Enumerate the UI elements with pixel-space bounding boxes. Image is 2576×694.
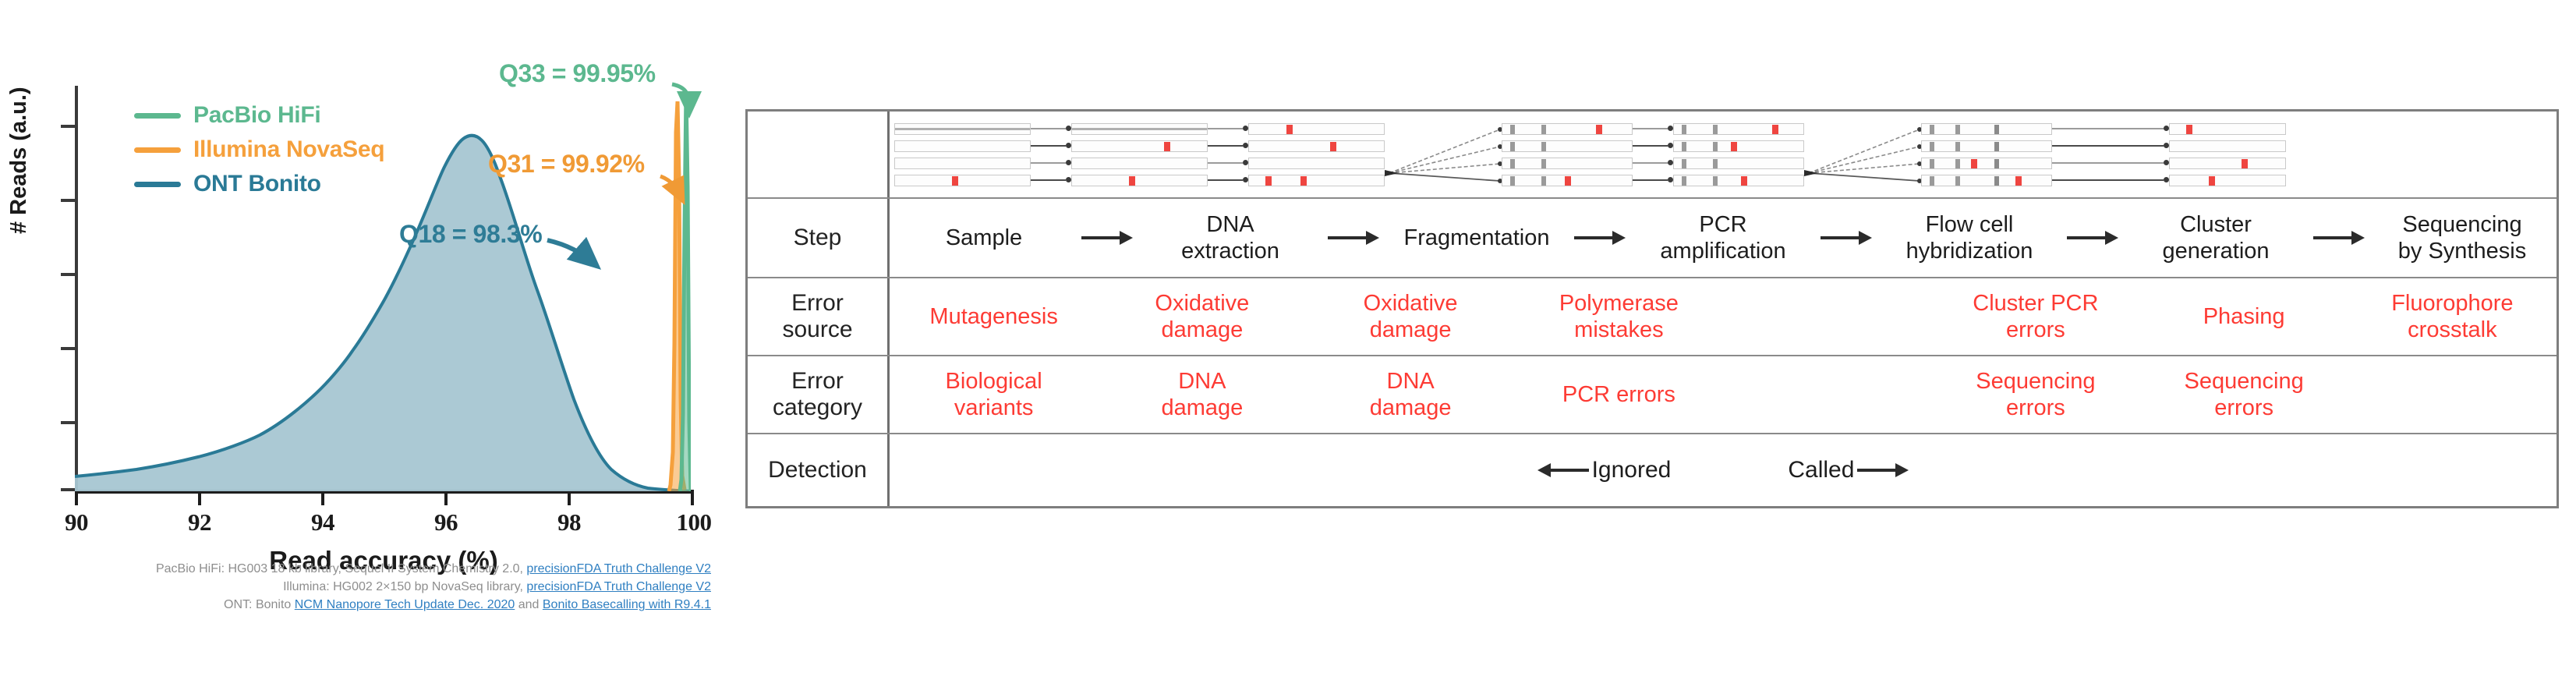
dna-transition-arrows bbox=[1031, 123, 1071, 186]
error-category-cell: Sequencingerrors bbox=[2140, 368, 2348, 421]
legend-label: ONT Bonito bbox=[193, 171, 321, 197]
legend-item-illumina-novaseq: Illumina NovaSeq bbox=[134, 133, 384, 167]
step-label: by Synthesis bbox=[2398, 238, 2526, 264]
legend-swatch-icon bbox=[134, 147, 181, 153]
footnote-link[interactable]: precisionFDA Truth Challenge V2 bbox=[526, 580, 711, 593]
legend-label: PacBio HiFi bbox=[193, 102, 320, 129]
y-axis-title: # Reads (a.u.) bbox=[6, 87, 32, 234]
mutation-mark bbox=[952, 176, 958, 186]
step-label: generation bbox=[2162, 238, 2269, 264]
error-category-label: damage bbox=[1099, 395, 1304, 421]
error-source-cells: Mutagenesis Oxidativedamage Oxidativedam… bbox=[890, 278, 2557, 355]
mutation-mark bbox=[1971, 159, 1977, 168]
row-label-step: Step bbox=[748, 199, 890, 277]
dna-strand bbox=[1071, 140, 1208, 152]
error-source-cell: Oxidativedamage bbox=[1098, 290, 1306, 343]
error-category-label: Sequencing bbox=[1933, 368, 2138, 395]
dna-strand bbox=[2169, 175, 2286, 186]
y-axis-tick bbox=[61, 199, 76, 202]
dna-fanout-cluster bbox=[1804, 122, 1921, 187]
table-row-error-source: Errorsource Mutagenesis Oxidativedamage … bbox=[748, 278, 2557, 356]
dna-transition-arrows bbox=[2052, 123, 2169, 186]
mutation-mark bbox=[2186, 125, 2192, 134]
dna-fanout-amplification bbox=[1385, 122, 1502, 187]
row-label-detection: Detection bbox=[748, 434, 890, 506]
read-accuracy-chart: 90 92 94 96 98 100 # Reads (a.u.) Read a… bbox=[0, 0, 733, 694]
error-source-label: errors bbox=[1933, 317, 2138, 343]
error-category-label: PCR errors bbox=[1516, 381, 1721, 408]
footnote-text: and bbox=[515, 598, 543, 611]
footnote-ont: ONT: Bonito NCM Nanopore Tech Update Dec… bbox=[0, 596, 711, 614]
error-source-label: damage bbox=[1099, 317, 1304, 343]
row-label-error-source: Errorsource bbox=[748, 278, 890, 355]
dna-strand bbox=[1248, 175, 1385, 186]
table-row-step: Step Sample DNAextraction Fragmentation bbox=[748, 199, 2557, 278]
dna-transition-arrows bbox=[1633, 123, 1673, 186]
step-label: DNA bbox=[1181, 211, 1279, 238]
arrow-right-icon bbox=[1857, 462, 1909, 478]
x-axis-tick bbox=[75, 490, 78, 505]
dna-strand bbox=[1502, 158, 1633, 169]
row-label-line: source bbox=[782, 317, 852, 343]
mutation-mark bbox=[1330, 142, 1336, 151]
dna-strand bbox=[894, 140, 1031, 152]
dna-strand bbox=[894, 158, 1031, 169]
annotation-ont-bonito: Q18 = 98.3% bbox=[399, 220, 542, 249]
step-cell-sample: Sample bbox=[890, 225, 1078, 251]
error-category-label: DNA bbox=[1099, 368, 1304, 395]
dna-stage-fragmentation bbox=[1248, 123, 1385, 186]
footnote-link[interactable]: Bonito Basecalling with R9.4.1 bbox=[543, 598, 711, 611]
dna-strand bbox=[1673, 158, 1804, 169]
legend-swatch-icon bbox=[134, 182, 181, 187]
table-row-diagram bbox=[748, 112, 2557, 199]
mutation-mark bbox=[2242, 159, 2248, 168]
detection-called-label: Called bbox=[1788, 457, 1854, 483]
footnote-text: PacBio HiFi: HG003 18 kb library, Sequel… bbox=[156, 562, 526, 575]
error-source-cell: Phasing bbox=[2140, 303, 2348, 330]
footnote-illumina: Illumina: HG002 2×150 bp NovaSeq library… bbox=[0, 578, 711, 596]
dna-strand bbox=[1248, 140, 1385, 152]
step-label: amplification bbox=[1660, 238, 1785, 264]
mutation-mark bbox=[1129, 176, 1135, 186]
step-arrow-icon bbox=[1328, 230, 1379, 246]
x-tick-label: 94 bbox=[311, 508, 334, 536]
dna-strand bbox=[1248, 158, 1385, 169]
step-cell-flow-cell-hybridization: Flow cellhybridization bbox=[1875, 211, 2064, 264]
step-cell-dna-extraction: DNAextraction bbox=[1136, 211, 1325, 264]
error-category-label: Sequencing bbox=[2142, 368, 2347, 395]
footnote-text: ONT: Bonito bbox=[224, 598, 295, 611]
mutation-mark bbox=[2209, 176, 2215, 186]
error-category-label: errors bbox=[1933, 395, 2138, 421]
x-axis-tick bbox=[444, 490, 448, 505]
error-category-cells: Biologicalvariants DNAdamage DNAdamage P… bbox=[890, 356, 2557, 433]
step-label: extraction bbox=[1181, 238, 1279, 264]
step-label: Sample bbox=[946, 225, 1022, 251]
x-tick-label: 98 bbox=[557, 508, 581, 536]
table-row-detection: Detection Ignored Called bbox=[748, 434, 2557, 506]
step-label: Flow cell bbox=[1906, 211, 2033, 238]
error-source-label: Fluorophore bbox=[2350, 290, 2555, 317]
mutation-mark bbox=[1286, 125, 1293, 134]
error-source-cell: Mutagenesis bbox=[890, 303, 1098, 330]
dna-strand bbox=[2169, 158, 2286, 169]
dna-strand bbox=[894, 123, 1031, 135]
footnote-link[interactable]: NCM Nanopore Tech Update Dec. 2020 bbox=[295, 598, 515, 611]
step-label: Cluster bbox=[2162, 211, 2269, 238]
error-category-cell: Sequencingerrors bbox=[1931, 368, 2139, 421]
mutation-mark bbox=[1731, 142, 1737, 151]
row-label-line: Error bbox=[782, 290, 852, 317]
dna-strand bbox=[1921, 123, 2052, 135]
x-axis-tick bbox=[691, 490, 694, 505]
detection-cells: Ignored Called bbox=[890, 434, 2557, 506]
dna-strand bbox=[1502, 123, 1633, 135]
step-cell-sequencing-by-synthesis: Sequencingby Synthesis bbox=[2368, 211, 2557, 264]
dna-strand bbox=[1071, 175, 1208, 186]
mutation-mark bbox=[1265, 176, 1272, 186]
table-row-error-category: Errorcategory Biologicalvariants DNAdama… bbox=[748, 356, 2557, 434]
y-axis-tick bbox=[61, 347, 76, 350]
step-label: Sequencing bbox=[2398, 211, 2526, 238]
error-source-label: mistakes bbox=[1516, 317, 1721, 343]
x-axis-tick bbox=[198, 490, 201, 505]
error-source-cell: Oxidativedamage bbox=[1307, 290, 1515, 343]
error-source-cell: Fluorophorecrosstalk bbox=[2348, 290, 2557, 343]
legend-item-pacbio-hifi: PacBio HiFi bbox=[134, 98, 384, 133]
step-cell-pcr-amplification: PCRamplification bbox=[1629, 211, 1817, 264]
step-arrow-icon bbox=[1574, 230, 1626, 246]
mutation-mark bbox=[1164, 142, 1170, 151]
dna-stage-flowcell bbox=[1673, 123, 1804, 186]
footnote-pacbio: PacBio HiFi: HG003 18 kb library, Sequel… bbox=[0, 560, 711, 578]
row-label-line: category bbox=[773, 395, 862, 421]
legend-swatch-icon bbox=[134, 113, 181, 119]
error-source-cell: Polymerasemistakes bbox=[1515, 290, 1723, 343]
mutation-mark bbox=[1772, 125, 1778, 134]
error-category-label: variants bbox=[891, 395, 1096, 421]
y-axis-tick bbox=[61, 273, 76, 276]
chart-footnotes: PacBio HiFi: HG003 18 kb library, Sequel… bbox=[0, 560, 714, 614]
dna-strand bbox=[1673, 140, 1804, 152]
row-label-diagram bbox=[748, 112, 890, 197]
legend-item-ont-bonito: ONT Bonito bbox=[134, 167, 384, 201]
error-source-label: damage bbox=[1308, 317, 1513, 343]
mutation-mark bbox=[1741, 176, 1747, 186]
footnote-text: Illumina: HG002 2×150 bp NovaSeq library… bbox=[283, 580, 526, 593]
step-cell-fragmentation: Fragmentation bbox=[1382, 225, 1571, 251]
annotation-pacbio-hifi: Q33 = 99.95% bbox=[499, 59, 656, 88]
error-category-cell: DNAdamage bbox=[1307, 368, 1515, 421]
dna-strand bbox=[1673, 123, 1804, 135]
x-tick-label: 90 bbox=[65, 508, 88, 536]
step-label: PCR bbox=[1660, 211, 1785, 238]
dna-strand bbox=[2169, 123, 2286, 135]
dna-strand bbox=[1071, 123, 1208, 135]
error-source-label: Oxidative bbox=[1099, 290, 1304, 317]
detection-called: Called bbox=[1788, 457, 1912, 483]
dna-strand bbox=[1921, 140, 2052, 152]
mutation-mark bbox=[1596, 125, 1602, 134]
mutation-mark bbox=[1300, 176, 1307, 186]
detection-ignored-label: Ignored bbox=[1592, 457, 1672, 483]
step-arrow-icon bbox=[2313, 230, 2365, 246]
step-arrow-icon bbox=[1081, 230, 1133, 246]
dna-transition-arrows bbox=[1208, 123, 1248, 186]
legend-label: Illumina NovaSeq bbox=[193, 136, 384, 163]
step-arrow-icon bbox=[2067, 230, 2118, 246]
error-category-label: DNA bbox=[1308, 368, 1513, 395]
y-axis-tick bbox=[61, 125, 76, 128]
sequencing-error-table: Step Sample DNAextraction Fragmentation bbox=[745, 109, 2559, 508]
x-tick-label: 96 bbox=[434, 508, 458, 536]
error-source-label: Polymerase bbox=[1516, 290, 1721, 317]
dna-strand bbox=[1502, 140, 1633, 152]
dna-strand bbox=[894, 175, 1031, 186]
annotation-illumina-novaseq: Q31 = 99.92% bbox=[488, 150, 645, 179]
dna-strand bbox=[2169, 140, 2286, 152]
error-category-label: errors bbox=[2142, 395, 2347, 421]
arrow-left-icon bbox=[1537, 462, 1589, 478]
step-label: Fragmentation bbox=[1404, 225, 1550, 251]
x-tick-label: 100 bbox=[677, 508, 712, 536]
chart-legend: PacBio HiFi Illumina NovaSeq ONT Bonito bbox=[134, 98, 384, 201]
dna-strand bbox=[1921, 158, 2052, 169]
step-label: hybridization bbox=[1906, 238, 2033, 264]
error-source-label: Mutagenesis bbox=[891, 303, 1096, 330]
figure-root: 90 92 94 96 98 100 # Reads (a.u.) Read a… bbox=[0, 0, 2576, 694]
y-axis-tick bbox=[61, 421, 76, 424]
step-arrow-icon bbox=[1821, 230, 1872, 246]
dna-strand bbox=[1673, 175, 1804, 186]
error-category-cell: DNAdamage bbox=[1098, 368, 1306, 421]
mutation-mark bbox=[1565, 176, 1571, 186]
dna-strand bbox=[1502, 175, 1633, 186]
dna-stage-cluster bbox=[1921, 123, 2052, 186]
error-source-label: Oxidative bbox=[1308, 290, 1513, 317]
dna-stage-extraction bbox=[1071, 123, 1208, 186]
dna-strand bbox=[1071, 158, 1208, 169]
dna-strand bbox=[1248, 123, 1385, 135]
dna-stage-sequencing bbox=[2169, 123, 2286, 186]
error-source-label: Cluster PCR bbox=[1933, 290, 2138, 317]
x-tick-label: 92 bbox=[188, 508, 211, 536]
step-cell-cluster-generation: Clustergeneration bbox=[2121, 211, 2310, 264]
error-category-cell: Biologicalvariants bbox=[890, 368, 1098, 421]
dna-stage-pcr bbox=[1502, 123, 1633, 186]
row-label-line: Error bbox=[773, 368, 862, 395]
x-axis-tick bbox=[321, 490, 324, 505]
footnote-link[interactable]: precisionFDA Truth Challenge V2 bbox=[526, 562, 711, 575]
step-cells: Sample DNAextraction Fragmentation PCRam… bbox=[890, 199, 2557, 277]
detection-ignored: Ignored bbox=[1534, 457, 1672, 483]
error-category-cell: PCR errors bbox=[1515, 381, 1723, 408]
error-source-label: Phasing bbox=[2142, 303, 2347, 330]
x-axis-tick bbox=[568, 490, 571, 505]
dna-strand bbox=[1921, 175, 2052, 186]
mutation-mark bbox=[2015, 176, 2022, 186]
dna-diagram bbox=[890, 112, 2557, 197]
error-source-label: crosstalk bbox=[2350, 317, 2555, 343]
y-axis-tick bbox=[61, 488, 76, 491]
row-label-error-category: Errorcategory bbox=[748, 356, 890, 433]
error-category-label: damage bbox=[1308, 395, 1513, 421]
dna-stage-sample bbox=[894, 123, 1031, 186]
error-category-label: Biological bbox=[891, 368, 1096, 395]
error-source-cell: Cluster PCRerrors bbox=[1931, 290, 2139, 343]
